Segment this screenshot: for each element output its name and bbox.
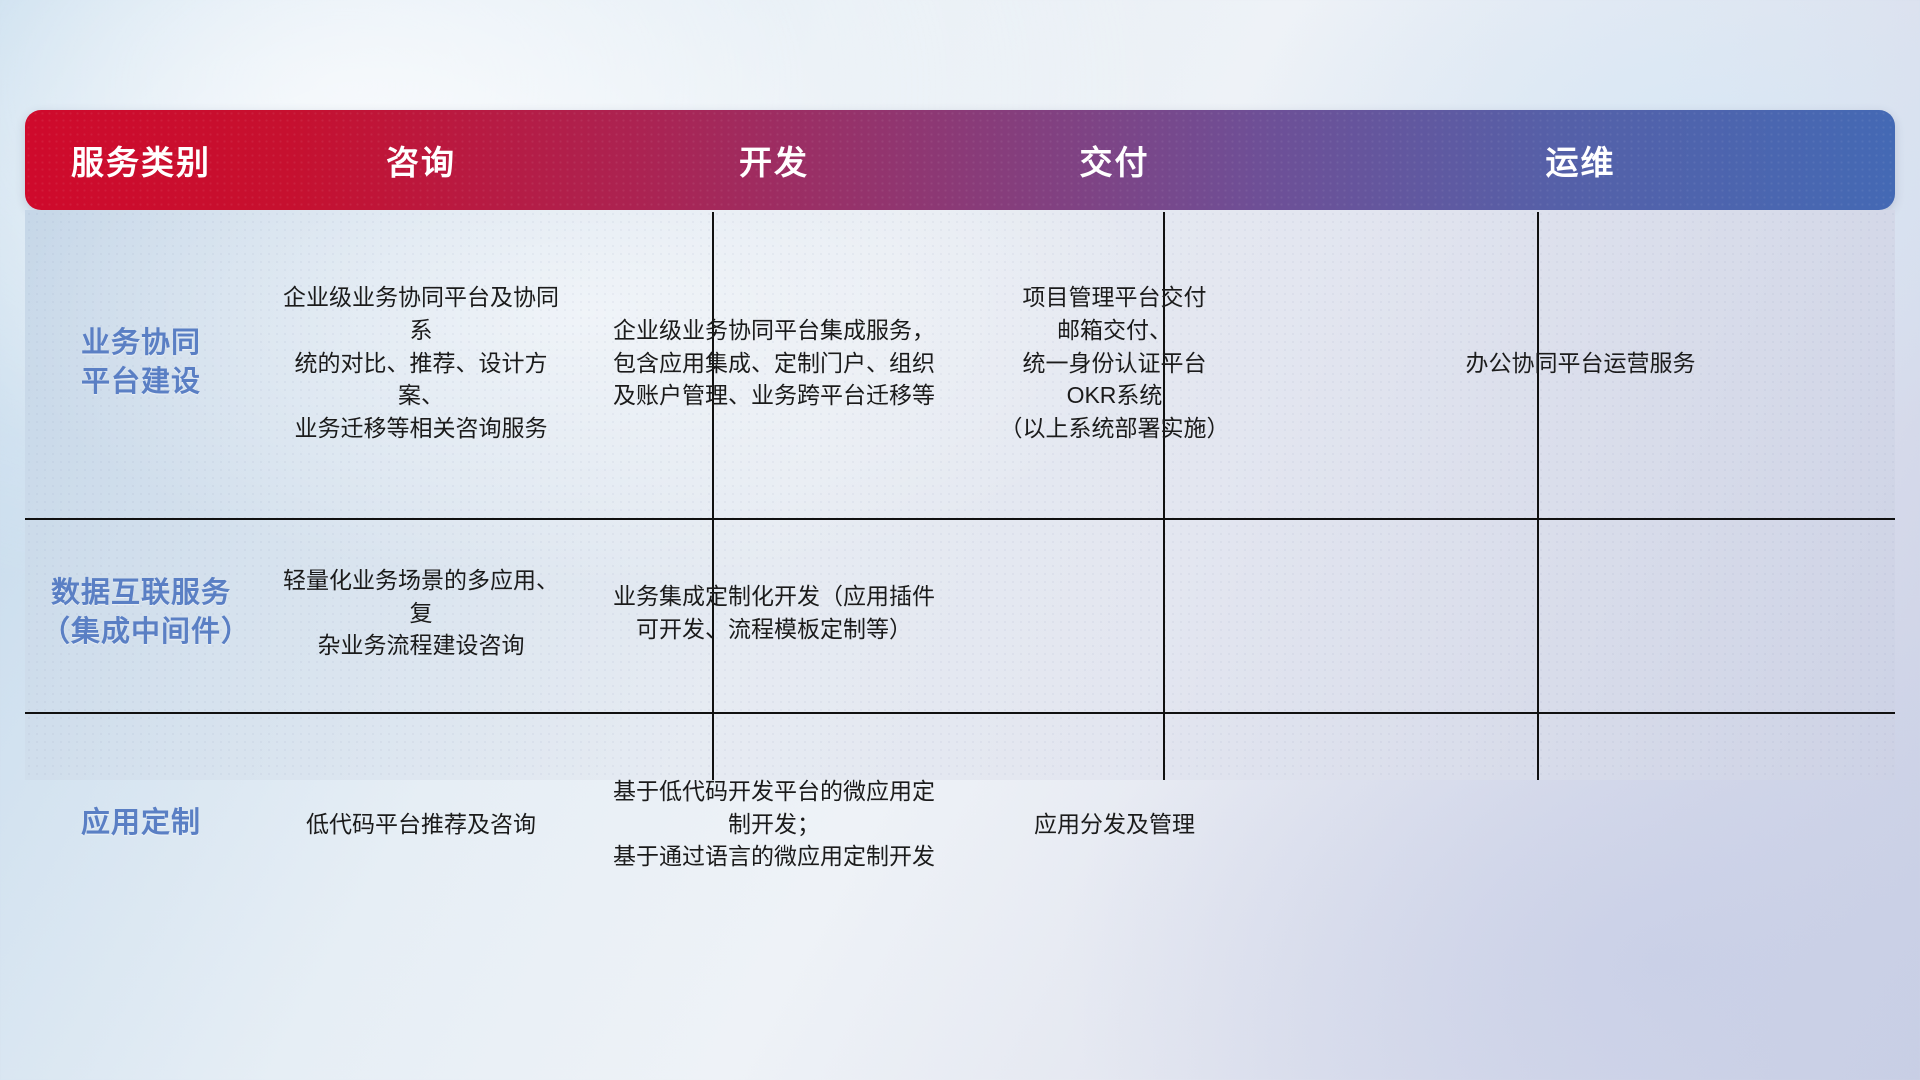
cell-r2-ops [1266, 516, 1895, 710]
cell-r3-ops [1266, 710, 1895, 938]
cell-r1-deliver: 项目管理平台交付 邮箱交付、 统一身份认证平台 OKR系统 （以上系统部署实施） [963, 210, 1266, 516]
row-label-data-integration: 数据互联服务 （集成中间件） [25, 516, 257, 710]
table-row: 数据互联服务 （集成中间件） 轻量化业务场景的多应用、复 杂业务流程建设咨询 业… [25, 516, 1895, 710]
column-header-develop: 开发 [585, 110, 963, 210]
cell-r2-consult: 轻量化业务场景的多应用、复 杂业务流程建设咨询 [257, 516, 585, 710]
cell-r3-deliver: 应用分发及管理 [963, 710, 1266, 938]
column-header-category: 服务类别 [25, 110, 257, 210]
cell-r1-consult: 企业级业务协同平台及协同系 统的对比、推荐、设计方案、 业务迁移等相关咨询服务 [257, 210, 585, 516]
cell-r1-develop: 企业级业务协同平台集成服务， 包含应用集成、定制门户、组织 及账户管理、业务跨平… [585, 210, 963, 516]
row-label-app-customization: 应用定制 [25, 710, 257, 938]
table-header-row: 服务类别 咨询 开发 交付 运维 [25, 110, 1895, 210]
column-header-ops: 运维 [1266, 110, 1895, 210]
cell-r2-deliver [963, 516, 1266, 710]
service-matrix-table: 服务类别 咨询 开发 交付 运维 业务协同 平台建设 企业级业务协同平台及协同系… [25, 110, 1895, 780]
cell-r3-develop: 基于低代码开发平台的微应用定 制开发； 基于通过语言的微应用定制开发 [585, 710, 963, 938]
cell-r2-develop: 业务集成定制化开发（应用插件 可开发、流程模板定制等） [585, 516, 963, 710]
table-row: 业务协同 平台建设 企业级业务协同平台及协同系 统的对比、推荐、设计方案、 业务… [25, 210, 1895, 516]
cell-r3-consult: 低代码平台推荐及咨询 [257, 710, 585, 938]
row-label-business-collaboration: 业务协同 平台建设 [25, 210, 257, 516]
column-header-consult: 咨询 [257, 110, 585, 210]
cell-r1-ops: 办公协同平台运营服务 [1266, 210, 1895, 516]
table-row: 应用定制 低代码平台推荐及咨询 基于低代码开发平台的微应用定 制开发； 基于通过… [25, 710, 1895, 938]
column-header-deliver: 交付 [963, 110, 1266, 210]
